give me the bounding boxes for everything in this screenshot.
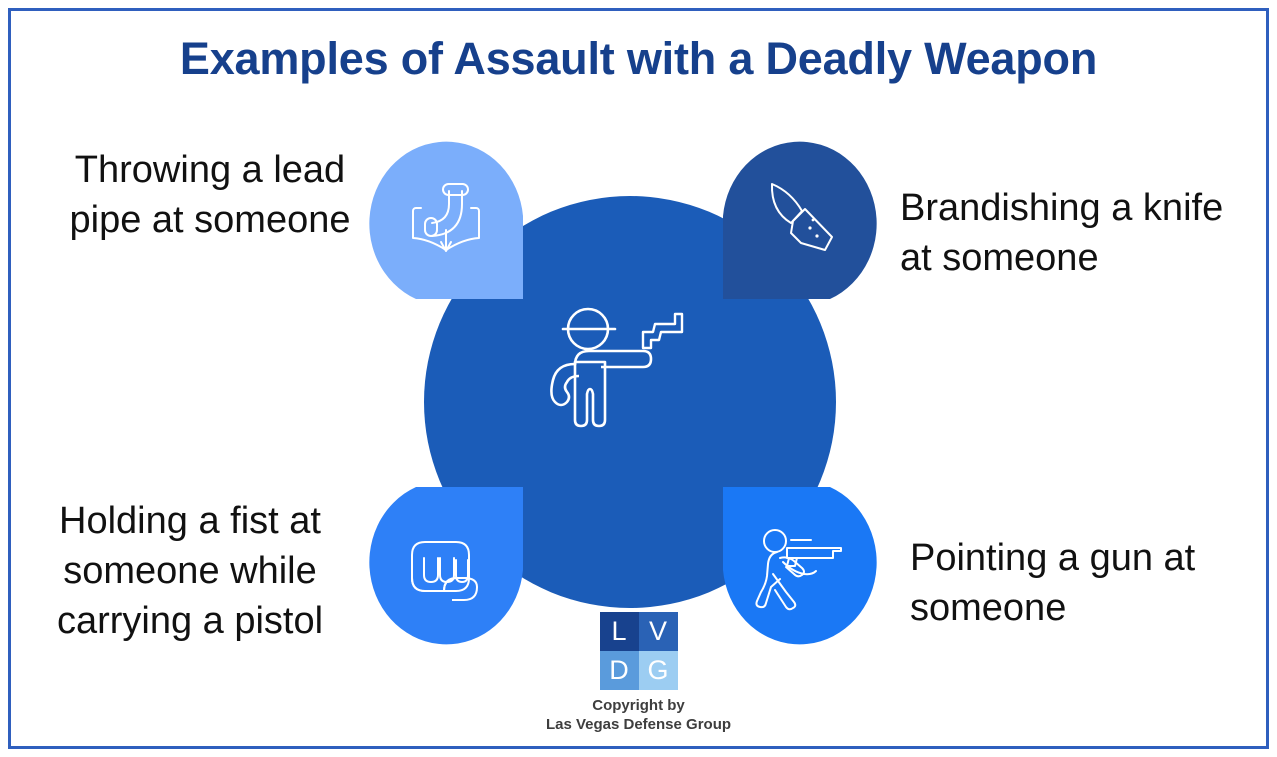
- fist-icon: [400, 528, 492, 612]
- logo-cell-l: L: [600, 612, 639, 651]
- person-aiming-rifle-icon: [753, 524, 849, 616]
- logo-cell-g: G: [639, 651, 678, 690]
- copyright-line-1: Copyright by: [0, 697, 1277, 716]
- lvdg-logo: L V D G: [600, 612, 678, 690]
- infographic-canvas: Examples of Assault with a Deadly Weapon: [0, 0, 1277, 757]
- copyright-line-2: Las Vegas Defense Group: [0, 716, 1277, 735]
- page-title: Examples of Assault with a Deadly Weapon: [0, 33, 1277, 85]
- copyright-text: Copyright by Las Vegas Defense Group: [0, 697, 1277, 735]
- person-pointing-gun-icon: [525, 302, 735, 502]
- label-top-left: Throwing a lead pipe at someone: [60, 145, 360, 245]
- logo-cell-v: V: [639, 612, 678, 651]
- petal-top-right[interactable]: [723, 134, 878, 299]
- label-top-right: Brandishing a knife at someone: [900, 183, 1240, 283]
- logo-block: L V D G Copyright by Las Vegas Defense G…: [0, 612, 1277, 735]
- knife-icon: [755, 171, 847, 263]
- petal-top-left[interactable]: [368, 134, 523, 299]
- logo-cell-d: D: [600, 651, 639, 690]
- lead-pipe-icon: [403, 174, 489, 260]
